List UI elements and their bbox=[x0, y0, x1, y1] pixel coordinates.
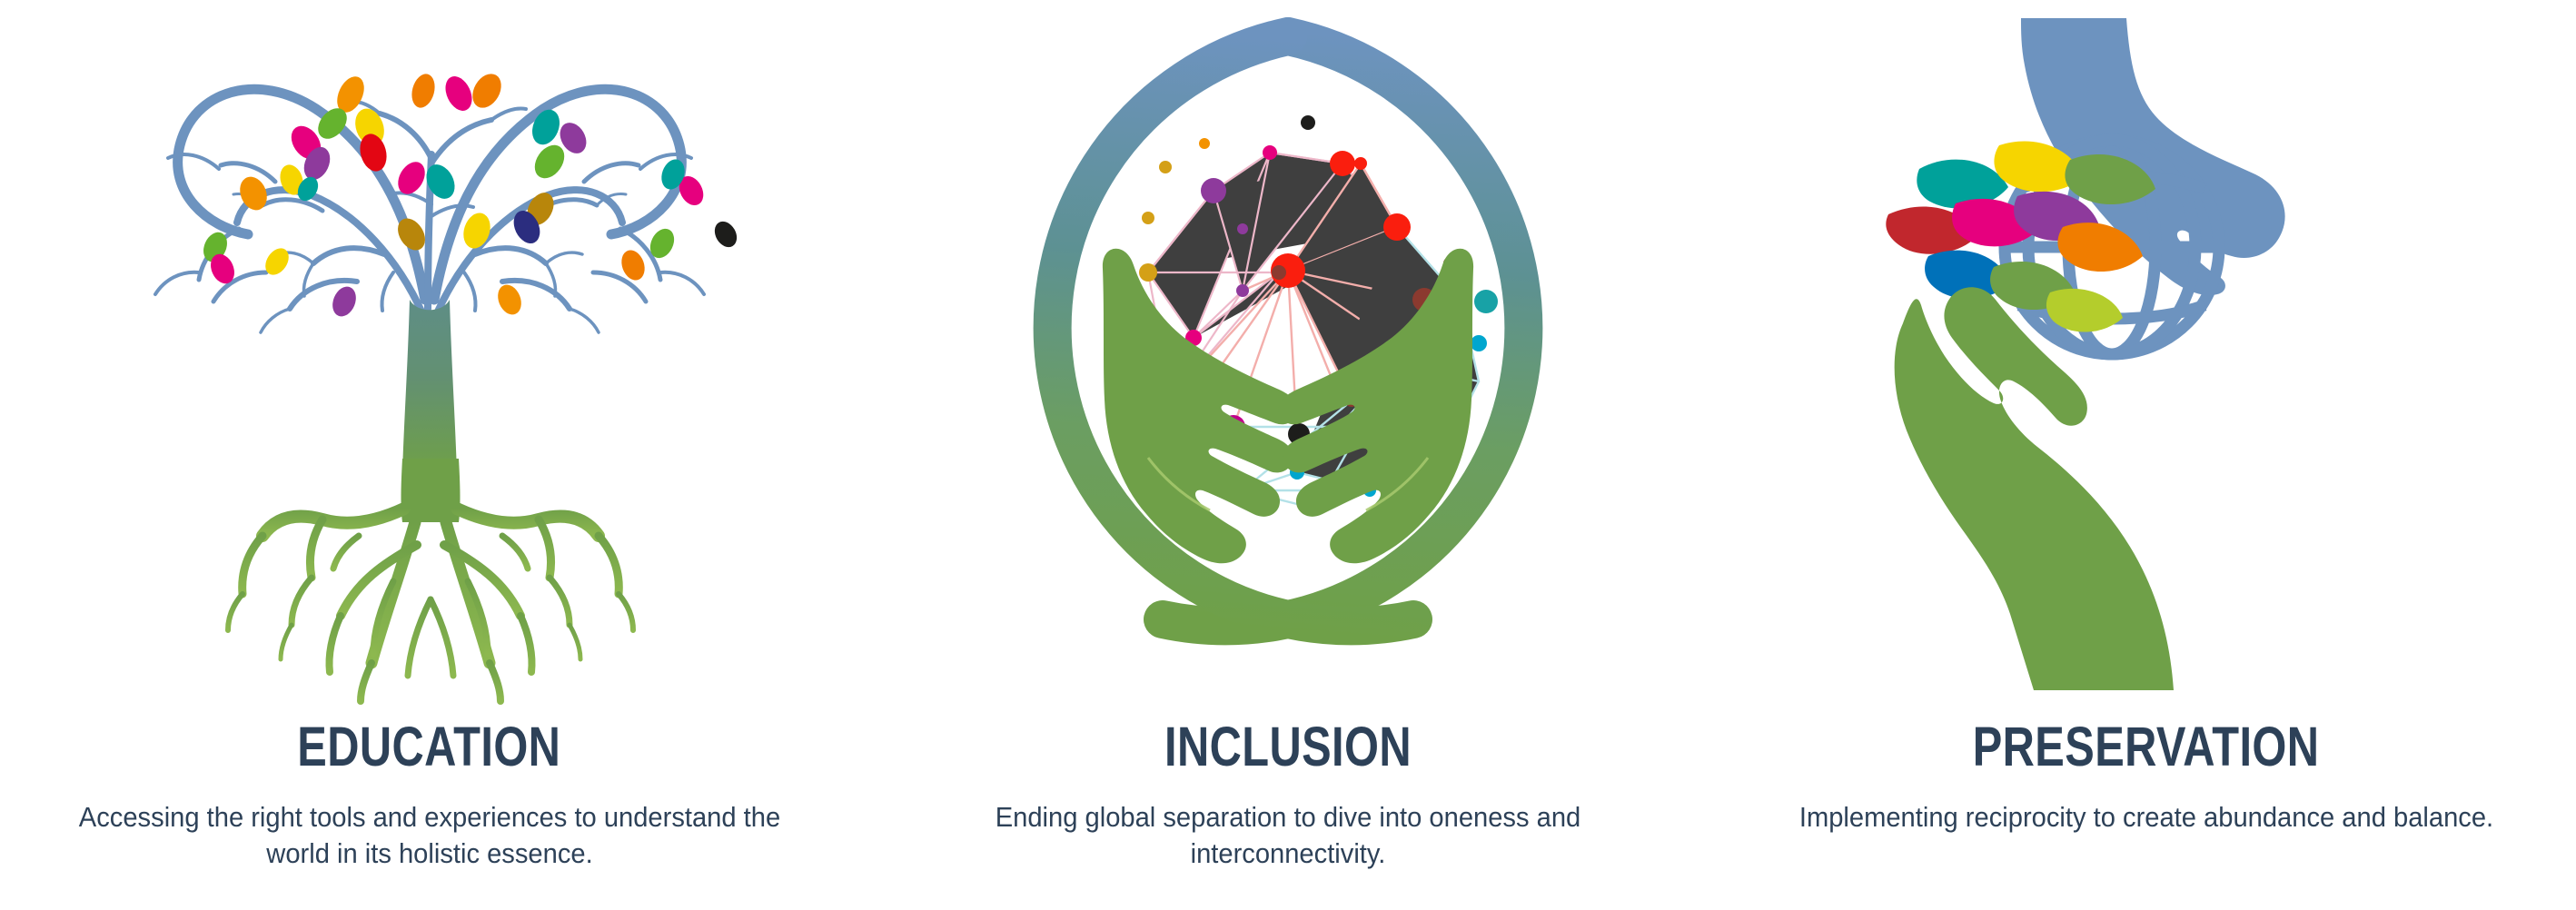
card-title: INCLUSION bbox=[1164, 719, 1412, 775]
core-values-section: EDUCATION Accessing the right tools and … bbox=[0, 0, 2576, 910]
card-title: PRESERVATION bbox=[1973, 719, 2320, 775]
hands-protecting-globe-with-leaves-icon bbox=[1717, 0, 2575, 727]
value-card-inclusion: INCLUSION Ending global separation to di… bbox=[858, 0, 1717, 910]
card-description: Accessing the right tools and experience… bbox=[56, 800, 802, 872]
tree-trunk bbox=[402, 300, 457, 472]
value-card-education: EDUCATION Accessing the right tools and … bbox=[0, 0, 858, 910]
heart-tree-with-roots-icon bbox=[0, 0, 858, 727]
card-description: Ending global separation to dive into on… bbox=[915, 800, 1660, 872]
hands-holding-network-globe-icon bbox=[858, 0, 1717, 727]
value-card-preservation: PRESERVATION Implementing reciprocity to… bbox=[1717, 0, 2575, 910]
leaf-cluster bbox=[1886, 141, 2155, 331]
card-title: EDUCATION bbox=[297, 719, 560, 775]
card-description: Implementing reciprocity to create abund… bbox=[1773, 800, 2519, 836]
